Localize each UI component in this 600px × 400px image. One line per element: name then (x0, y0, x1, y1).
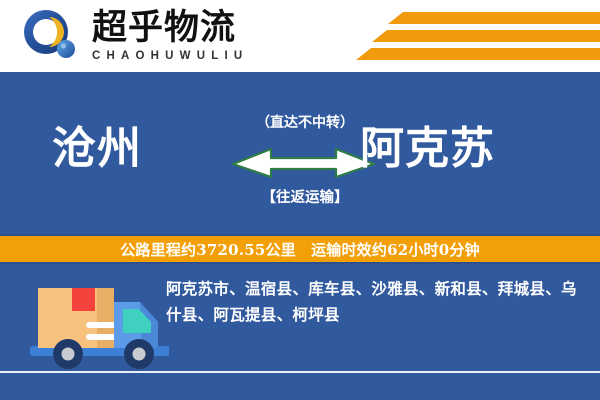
brand-pinyin: CHAOHUWULIU (92, 49, 292, 63)
bottom-divider (0, 371, 600, 373)
bidirectional-arrow-icon (231, 146, 376, 180)
route-panel: 沧州 （直达不中转） 【往返运输】 阿克苏 (0, 72, 600, 234)
brand-block: 超乎物流 CHAOHUWULIU (92, 9, 292, 65)
destination-city: 阿克苏 (360, 124, 495, 174)
banner-header: 超乎物流 CHAOHUWULIU (0, 0, 600, 72)
header-stripe-1 (388, 12, 600, 24)
logistics-route-banner: 超乎物流 CHAOHUWULIU 沧州 （直达不中转） 【往返运输】 阿克苏 公… (0, 0, 600, 400)
header-stripe-2 (372, 30, 600, 42)
delivery-truck-icon (24, 276, 169, 376)
coverage-area-list: 阿克苏市、温宿县、库车县、沙雅县、新和县、拜城县、乌什县、阿瓦提县、柯坪县 (166, 276, 586, 328)
distance-duration-bar: 公路里程约3720.55公里 运输时效约62小时0分钟 (0, 234, 600, 264)
roundtrip-note: 【往返运输】 (235, 186, 375, 207)
direct-service-note: （直达不中转） (240, 112, 370, 132)
circle-crescent-logo-icon (22, 8, 80, 66)
header-stripe-3 (356, 48, 600, 60)
origin-city: 沧州 (52, 124, 142, 174)
brand-name: 超乎物流 (92, 9, 292, 47)
distance-duration-text: 公路里程约3720.55公里 运输时效约62小时0分钟 (120, 239, 480, 260)
coverage-panel: 阿克苏市、温宿县、库车县、沙雅县、新和县、拜城县、乌什县、阿瓦提县、柯坪县 (0, 264, 600, 400)
